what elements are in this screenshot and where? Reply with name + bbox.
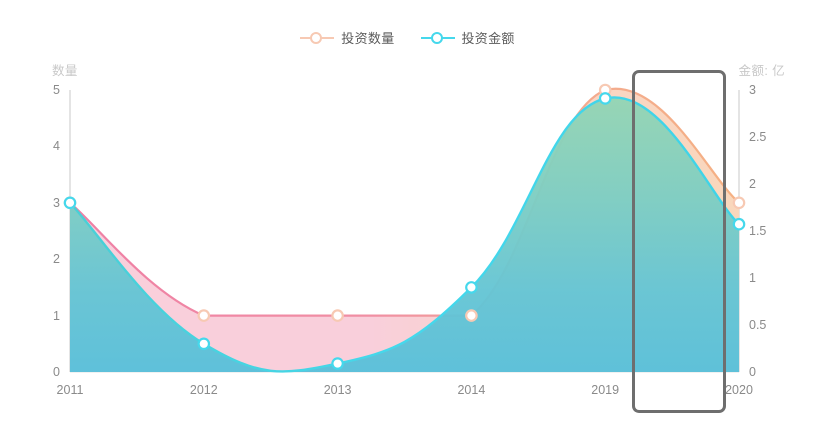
chart-container: 投资数量 投资金额 数量 金额: 亿	[0, 0, 815, 427]
data-point-investment-amount-2013[interactable]	[332, 358, 342, 368]
left-axis-tick-3: 3	[30, 196, 60, 210]
right-axis-tick-3: 3	[749, 83, 756, 97]
left-axis-tick-5: 5	[30, 83, 60, 97]
right-axis-tick-0: 0	[749, 365, 756, 379]
x-axis-tick-2014: 2014	[457, 383, 485, 397]
x-axis-tick-2011: 2011	[57, 383, 84, 397]
plot-area	[0, 0, 815, 427]
right-axis-tick-1: 1	[749, 271, 756, 285]
data-point-investment-amount-2020[interactable]	[734, 219, 744, 229]
left-axis-tick-0: 0	[30, 365, 60, 379]
data-point-investment-count-2013[interactable]	[332, 310, 342, 320]
right-axis-tick-0.5: 0.5	[749, 318, 766, 332]
data-point-investment-amount-2012[interactable]	[199, 339, 209, 349]
right-axis-tick-1.5: 1.5	[749, 224, 766, 238]
left-axis-tick-2: 2	[30, 252, 60, 266]
data-point-investment-amount-2014[interactable]	[466, 282, 476, 292]
x-axis-tick-2019: 2019	[591, 383, 619, 397]
data-point-investment-count-2020[interactable]	[734, 198, 744, 208]
x-axis-tick-2020: 2020	[725, 383, 753, 397]
right-axis-tick-2.5: 2.5	[749, 130, 766, 144]
data-point-investment-count-2014[interactable]	[466, 310, 476, 320]
left-axis-tick-4: 4	[30, 139, 60, 153]
x-axis-tick-2012: 2012	[190, 383, 218, 397]
left-axis-tick-1: 1	[30, 309, 60, 323]
data-point-investment-amount-2011[interactable]	[65, 198, 75, 208]
x-axis-tick-2013: 2013	[324, 383, 352, 397]
data-point-investment-amount-2019[interactable]	[600, 93, 610, 103]
data-point-investment-count-2012[interactable]	[199, 310, 209, 320]
right-axis-tick-2: 2	[749, 177, 756, 191]
